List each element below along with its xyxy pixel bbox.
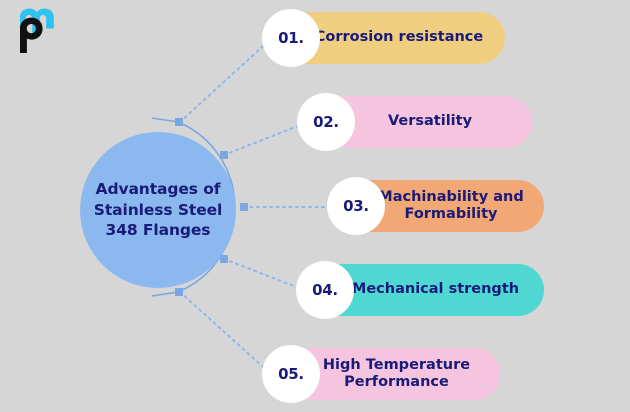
- advantage-badge-5: 05.: [262, 345, 320, 403]
- arc-node-2: [220, 151, 228, 159]
- arc-node-1: [175, 118, 183, 126]
- leader-line-1: [180, 38, 272, 122]
- advantage-item-5[interactable]: 05. High Temperature Performance: [265, 348, 500, 400]
- advantage-number-3: 03.: [343, 197, 369, 215]
- arc-node-5: [175, 288, 183, 296]
- leader-line-5: [180, 292, 272, 375]
- advantage-badge-1: 01.: [262, 9, 320, 67]
- mp-monogram-icon: [16, 8, 70, 54]
- arc-stub-bottom: [152, 292, 178, 296]
- leader-line-4: [224, 259, 307, 291]
- arc-node-3: [240, 203, 248, 211]
- arc-stub-top: [152, 118, 178, 122]
- advantage-badge-4: 04.: [296, 261, 354, 319]
- advantage-badge-2: 02.: [297, 93, 355, 151]
- infographic-canvas: Advantages of Stainless Steel 348 Flange…: [0, 0, 630, 412]
- center-topic-circle: Advantages of Stainless Steel 348 Flange…: [80, 132, 236, 288]
- brand-logo[interactable]: [16, 8, 70, 54]
- advantage-number-2: 02.: [313, 113, 339, 131]
- advantage-number-4: 04.: [312, 281, 338, 299]
- center-topic-title: Advantages of Stainless Steel 348 Flange…: [86, 179, 230, 240]
- advantage-item-3[interactable]: 03. Machinability and Formability: [330, 180, 544, 232]
- advantage-item-4[interactable]: 04. Mechanical strength: [299, 264, 544, 316]
- advantage-number-1: 01.: [278, 29, 304, 47]
- advantage-item-1[interactable]: 01. Corrosion resistance: [265, 12, 505, 64]
- arc-node-4: [220, 255, 228, 263]
- leader-line-2: [224, 122, 308, 155]
- advantage-item-2[interactable]: 02. Versatility: [300, 96, 532, 148]
- advantage-number-5: 05.: [278, 365, 304, 383]
- advantage-badge-3: 03.: [327, 177, 385, 235]
